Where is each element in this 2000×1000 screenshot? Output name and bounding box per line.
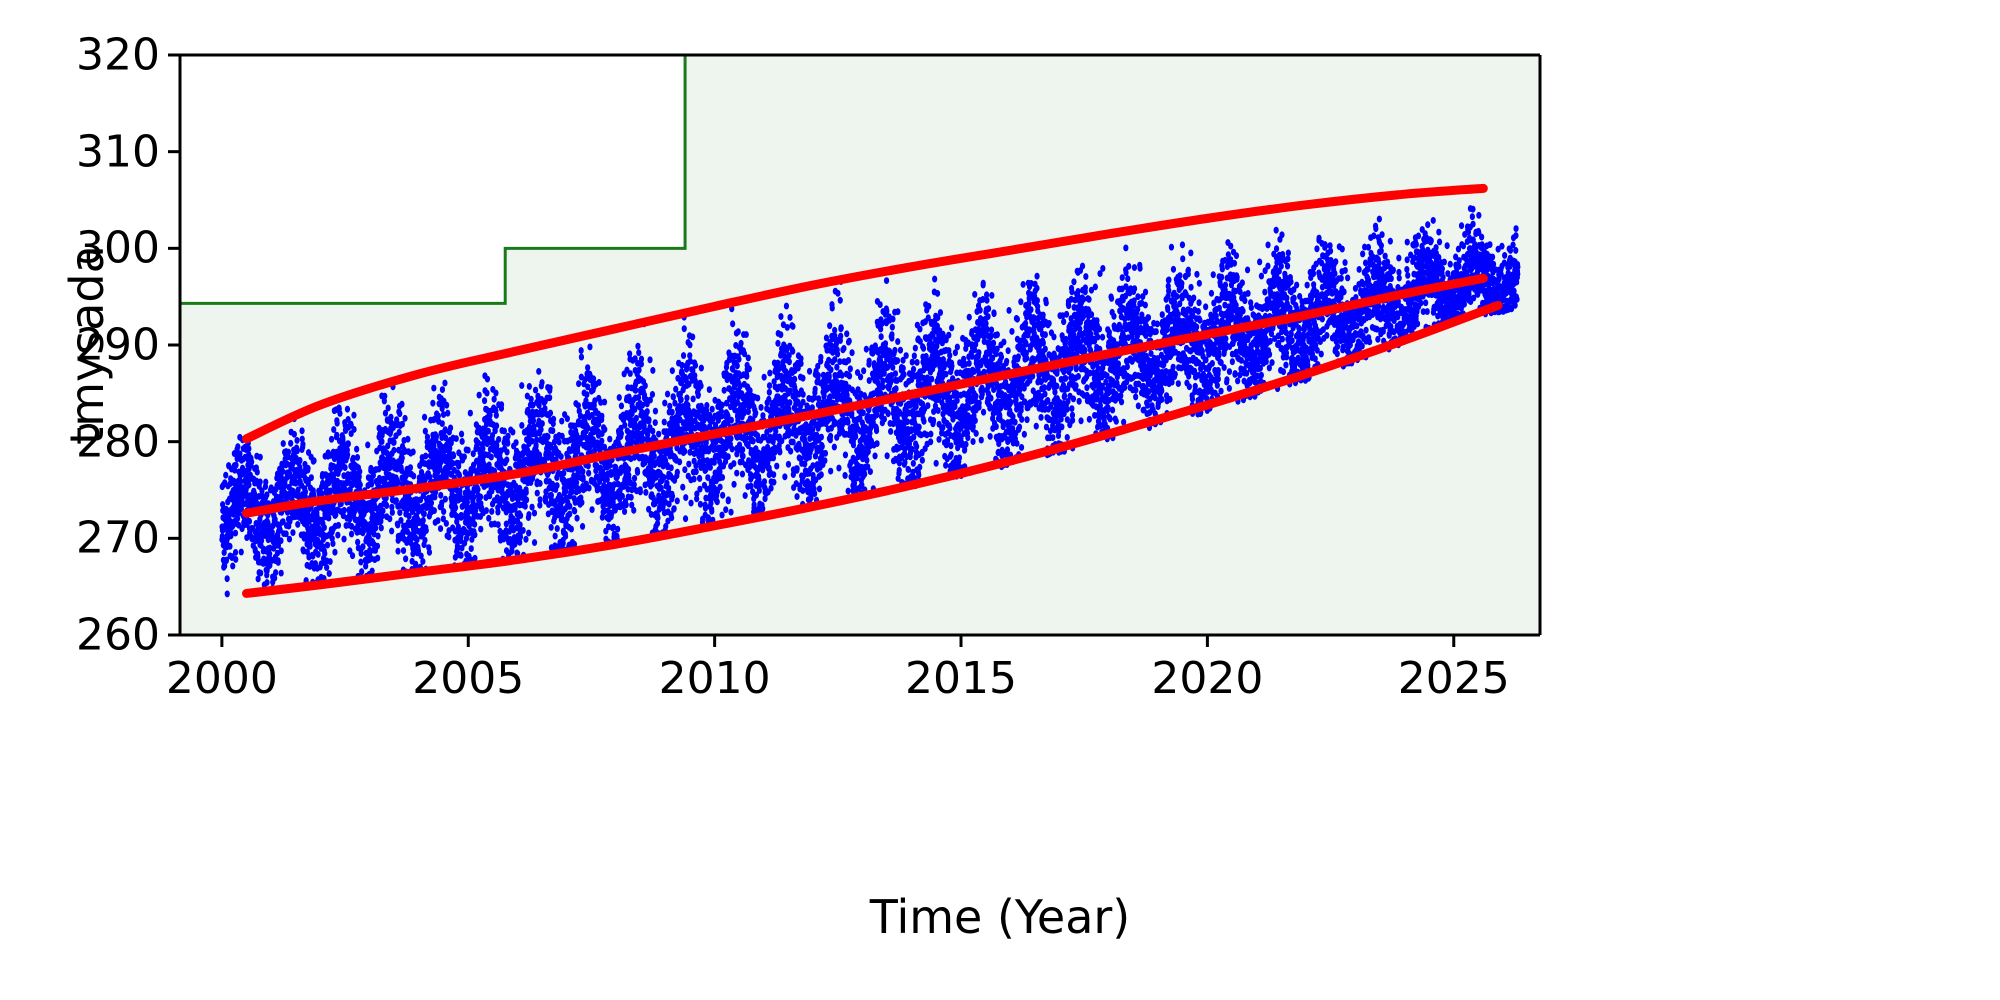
x-axis-title: Time (Year) (870, 890, 1130, 944)
x-tick-label: 2015 (905, 653, 1017, 704)
y-axis-title: tmysada (60, 245, 114, 445)
y-tick-marks (168, 55, 180, 635)
y-tick-label: 320 (20, 30, 160, 81)
x-tick-marks (222, 635, 1454, 647)
y-tick-label: 310 (20, 126, 160, 177)
x-tick-label: 2000 (166, 653, 278, 704)
plot-canvas (0, 0, 2000, 1000)
x-tick-label: 2025 (1398, 653, 1510, 704)
x-tick-label: 2020 (1151, 653, 1263, 704)
chart-figure: 260270280290300310320 200020052010201520… (0, 0, 2000, 1000)
y-tick-label: 260 (20, 610, 160, 661)
y-tick-label: 270 (20, 513, 160, 564)
x-tick-label: 2005 (412, 653, 524, 704)
x-tick-label: 2010 (659, 653, 771, 704)
